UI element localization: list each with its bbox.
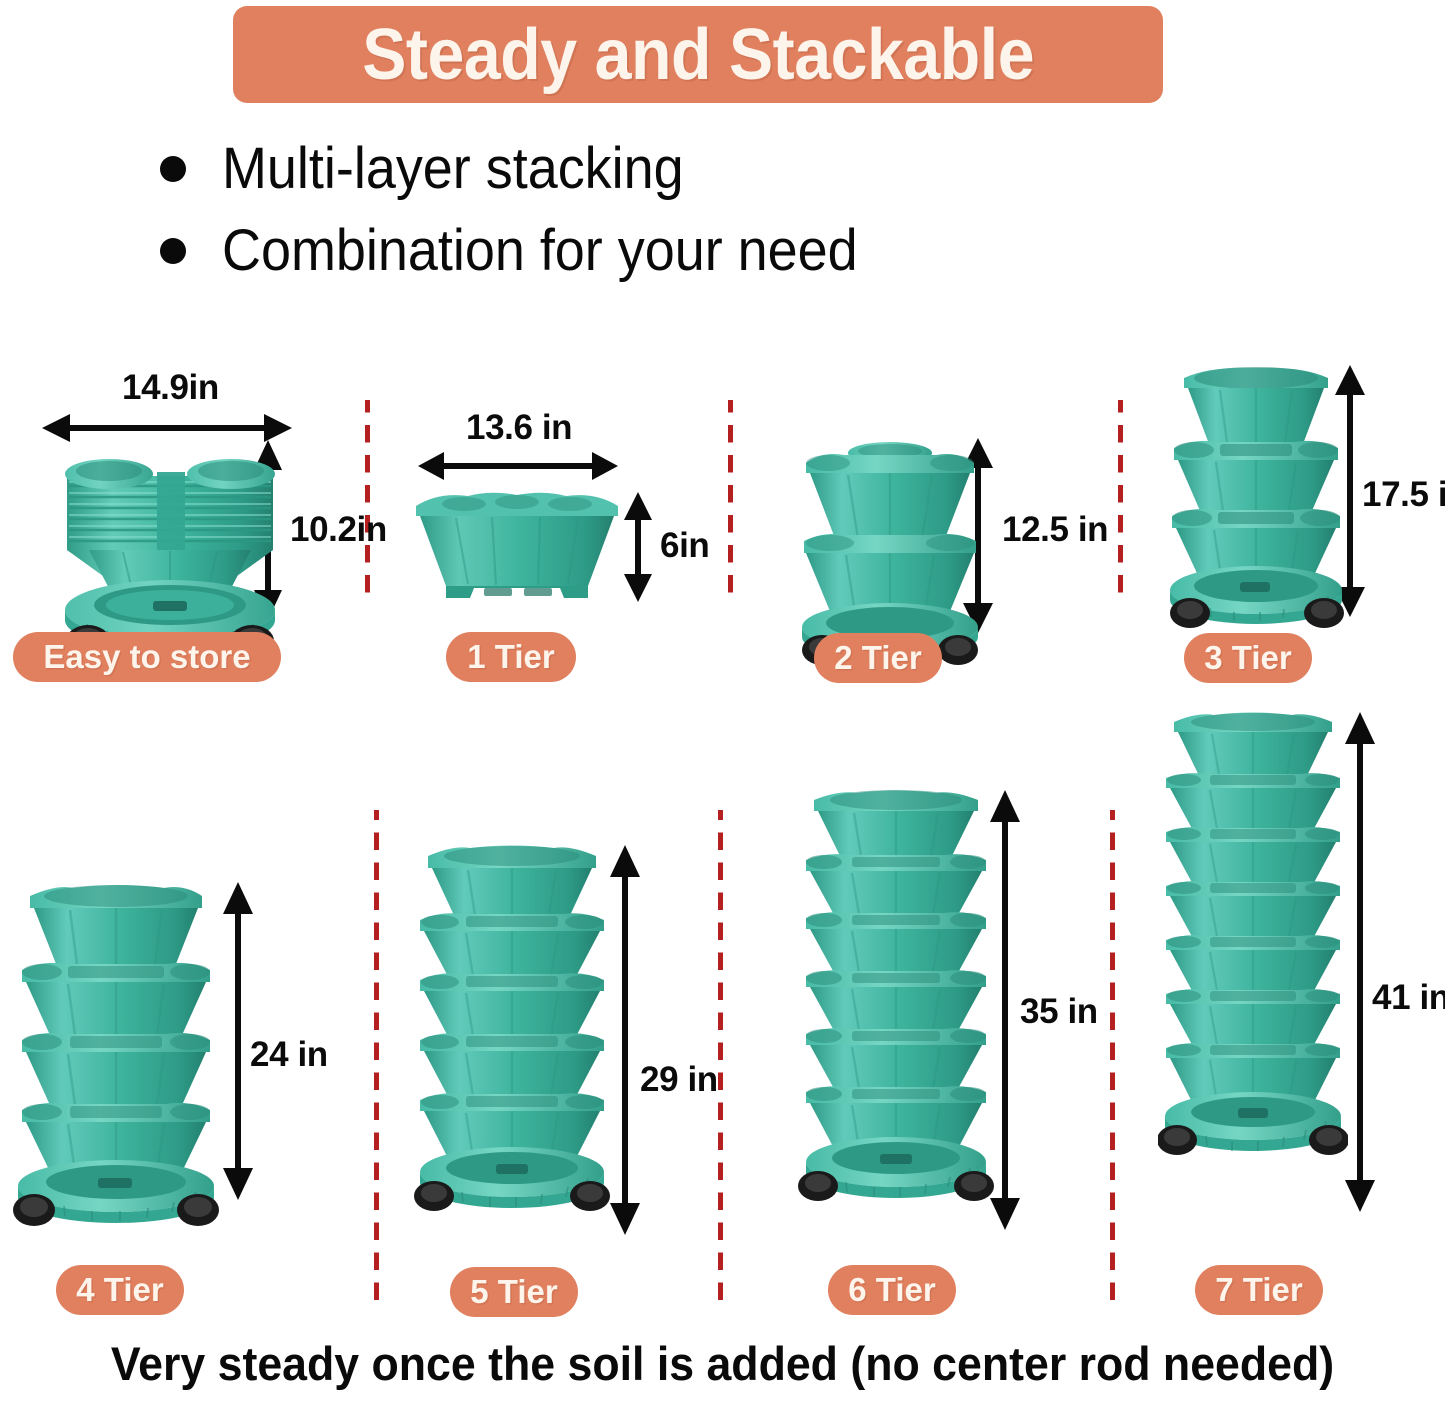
divider-vertical-1	[365, 400, 370, 600]
height-dimension-label: 41 in	[1372, 978, 1445, 1018]
width-dimension-arrow	[418, 446, 618, 486]
bullet-dot-icon	[160, 156, 186, 182]
badge-2-tier[interactable]: 2 Tier	[814, 633, 942, 683]
width-dimension-label: 14.9in	[122, 368, 219, 408]
planter-4-tier-illustration	[12, 880, 227, 1240]
list-item: Combination for your need	[160, 210, 1160, 292]
planter-2-tier-illustration	[790, 435, 990, 665]
bullet-label: Combination for your need	[222, 222, 858, 280]
product-cell-7-tier: 41 in	[1140, 700, 1445, 1320]
planter-7-tier-illustration	[1158, 710, 1348, 1230]
page-title: Steady and Stackable	[362, 19, 1034, 91]
badge-7-tier[interactable]: 7 Tier	[1195, 1265, 1323, 1315]
bullet-dot-icon	[160, 238, 186, 264]
planter-6-tier-illustration	[796, 788, 996, 1248]
product-cell-easy-to-store: 14.9in 10.2in	[0, 380, 365, 690]
feature-bullet-list: Multi-layer stacking Combination for you…	[160, 128, 1160, 292]
product-cell-6-tier: 35 in	[780, 760, 1120, 1320]
list-item: Multi-layer stacking	[160, 128, 1160, 210]
product-cell-3-tier: 17.5 in	[1140, 350, 1445, 690]
width-dimension-label: 13.6 in	[466, 408, 572, 448]
product-cell-2-tier: 12.5 in	[760, 400, 1120, 690]
planter-5-tier-illustration	[412, 842, 612, 1252]
product-cell-4-tier: 24 in	[0, 860, 370, 1320]
height-dimension-label: 29 in	[640, 1060, 718, 1100]
planter-single-tier-illustration	[412, 490, 622, 610]
product-cell-1-tier: 13.6 in 6in	[390, 400, 730, 690]
badge-6-tier[interactable]: 6 Tier	[828, 1265, 956, 1315]
height-dimension-arrow	[618, 492, 658, 602]
bullet-label: Multi-layer stacking	[222, 140, 684, 198]
planter-3-tier-illustration	[1162, 364, 1352, 634]
badge-4-tier[interactable]: 4 Tier	[56, 1265, 184, 1315]
height-dimension-label: 35 in	[1020, 992, 1098, 1032]
badge-1-tier[interactable]: 1 Tier	[446, 632, 576, 682]
infographic-page: Steady and Stackable Multi-layer stackin…	[0, 0, 1445, 1403]
product-cell-5-tier: 29 in	[400, 820, 740, 1320]
footer-caption: Very steady once the soil is added (no c…	[36, 1340, 1409, 1387]
height-dimension-label: 24 in	[250, 1035, 328, 1075]
badge-5-tier[interactable]: 5 Tier	[450, 1267, 578, 1317]
badge-easy-to-store[interactable]: Easy to store	[13, 632, 281, 682]
divider-vertical-4	[374, 810, 379, 1305]
height-dimension-label: 10.2in	[290, 510, 387, 550]
badge-3-tier[interactable]: 3 Tier	[1184, 633, 1312, 683]
height-dimension-label: 6in	[660, 526, 709, 566]
title-banner: Steady and Stackable	[233, 6, 1163, 103]
height-dimension-label: 17.5 in	[1362, 475, 1445, 515]
height-dimension-label: 12.5 in	[1002, 510, 1108, 550]
